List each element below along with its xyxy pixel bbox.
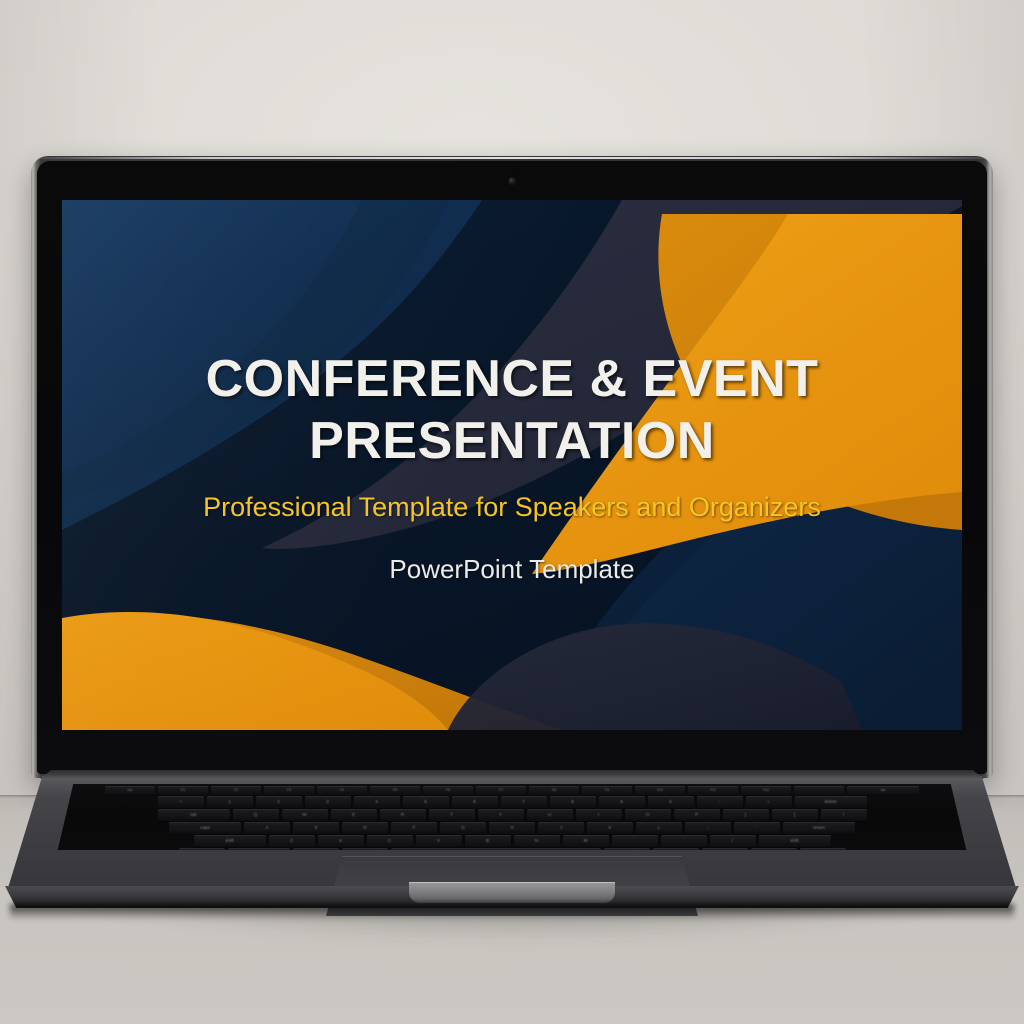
keyboard-key[interactable]: 4: [354, 796, 400, 808]
keyboard-key[interactable]: U: [527, 809, 573, 821]
keyboard-key[interactable]: F: [391, 822, 437, 834]
key-label: ;: [685, 822, 731, 834]
presentation-slide[interactable]: CONFERENCE & EVENT PRESENTATION Professi…: [62, 200, 962, 730]
key-label: Q: [233, 809, 279, 821]
key-label: V: [416, 835, 462, 847]
keyboard-key[interactable]: ctrl: [228, 848, 290, 850]
keyboard-key[interactable]: [: [723, 809, 769, 821]
key-label: N: [514, 835, 560, 847]
key-label: F4: [317, 786, 367, 795]
key-label: K: [587, 822, 633, 834]
key-label: del: [847, 786, 919, 795]
keyboard-row: ~1234567890-=delete: [54, 796, 970, 808]
key-label: A: [244, 822, 290, 834]
keyboard-key[interactable]: 8: [550, 796, 596, 808]
keyboard[interactable]: escF1F2F3F4F5F6F7F8F9F10F11F12del~123456…: [54, 784, 970, 850]
slide-background-graphic: [62, 200, 962, 730]
key-label: E: [331, 809, 377, 821]
key-label: U: [527, 809, 573, 821]
keyboard-key[interactable]: cmd: [604, 848, 650, 850]
key-label: space: [391, 848, 601, 850]
keyboard-key[interactable]: \: [821, 809, 867, 821]
webcam-icon: [509, 178, 515, 184]
keyboard-key[interactable]: F8: [529, 786, 579, 795]
keyboard-key[interactable]: M: [563, 835, 609, 847]
keyboard-key[interactable]: G: [440, 822, 486, 834]
keyboard-key[interactable]: ▶: [800, 848, 846, 850]
key-label: O: [625, 809, 671, 821]
keyboard-key[interactable]: 9: [599, 796, 645, 808]
key-label: F2: [211, 786, 261, 795]
keyboard-row: capsASDFGHJKL;'return: [54, 822, 970, 834]
key-label: F8: [529, 786, 579, 795]
keyboard-key[interactable]: [794, 786, 844, 795]
key-label: 0: [648, 796, 694, 808]
key-label: T: [429, 809, 475, 821]
keyboard-key[interactable]: F6: [423, 786, 473, 795]
key-label: ◀: [702, 848, 748, 850]
keyboard-key[interactable]: V: [416, 835, 462, 847]
keyboard-key[interactable]: T: [429, 809, 475, 821]
key-label: =: [746, 796, 792, 808]
key-label: opt: [653, 848, 699, 850]
keyboard-key[interactable]: 7: [501, 796, 547, 808]
keyboard-key[interactable]: ▲▼: [751, 848, 797, 850]
keyboard-key[interactable]: return: [783, 822, 855, 834]
key-label: caps: [169, 822, 241, 834]
keyboard-key[interactable]: ◀: [702, 848, 748, 850]
key-label: return: [783, 822, 855, 834]
laptop-base: escF1F2F3F4F5F6F7F8F9F10F11F12del~123456…: [0, 770, 1024, 920]
key-label: F3: [264, 786, 314, 795]
keyboard-key[interactable]: Y: [478, 809, 524, 821]
keyboard-key[interactable]: Q: [233, 809, 279, 821]
keyboard-key[interactable]: J: [538, 822, 584, 834]
lid-release-notch: [409, 882, 615, 903]
keyboard-key[interactable]: 5: [403, 796, 449, 808]
key-label: 9: [599, 796, 645, 808]
keyboard-key[interactable]: delete: [795, 796, 867, 808]
keyboard-key[interactable]: H: [489, 822, 535, 834]
key-label: cmd: [342, 848, 388, 850]
keyboard-key[interactable]: S: [293, 822, 339, 834]
key-label: 3: [305, 796, 351, 808]
base-underside-shadow: [10, 904, 1014, 920]
key-label: 8: [550, 796, 596, 808]
keyboard-key[interactable]: ]: [772, 809, 818, 821]
keyboard-key[interactable]: D: [342, 822, 388, 834]
keyboard-key[interactable]: 2: [256, 796, 302, 808]
keyboard-row: shiftZXCVBNM,./shift: [54, 835, 970, 847]
key-label: R: [380, 809, 426, 821]
key-label: ,: [612, 835, 658, 847]
key-label: fn: [179, 848, 225, 850]
key-label: D: [342, 822, 388, 834]
keyboard-key[interactable]: opt: [653, 848, 699, 850]
scene: CONFERENCE & EVENT PRESENTATION Professi…: [0, 0, 1024, 1024]
key-label: ]: [772, 809, 818, 821]
keyboard-key[interactable]: A: [244, 822, 290, 834]
keyboard-key[interactable]: F5: [370, 786, 420, 795]
key-label: F9: [582, 786, 632, 795]
key-label: esc: [105, 786, 155, 795]
key-label: S: [293, 822, 339, 834]
key-label: -: [697, 796, 743, 808]
key-label: 6: [452, 796, 498, 808]
keyboard-key[interactable]: O: [625, 809, 671, 821]
key-label: ▲▼: [751, 848, 797, 850]
keyboard-key[interactable]: /: [710, 835, 756, 847]
key-label: F10: [635, 786, 685, 795]
key-label: 1: [207, 796, 253, 808]
keyboard-key[interactable]: ': [734, 822, 780, 834]
keyboard-key[interactable]: -: [697, 796, 743, 808]
keyboard-key[interactable]: caps: [169, 822, 241, 834]
key-label: ctrl: [228, 848, 290, 850]
keyboard-key[interactable]: C: [367, 835, 413, 847]
keyboard-key[interactable]: space: [391, 848, 601, 850]
key-label: H: [489, 822, 535, 834]
key-label: G: [440, 822, 486, 834]
keyboard-key[interactable]: ~: [158, 796, 204, 808]
key-label: shift: [759, 835, 831, 847]
lid-top-highlight: [41, 157, 983, 159]
key-label: P: [674, 809, 720, 821]
key-label: shift: [194, 835, 266, 847]
keyboard-row: fnctrloptcmdspacecmdopt◀▲▼▶: [54, 848, 970, 850]
key-label: [: [723, 809, 769, 821]
key-label: ▶: [800, 848, 846, 850]
key-label: F11: [688, 786, 738, 795]
key-label: cmd: [604, 848, 650, 850]
keyboard-key[interactable]: F3: [264, 786, 314, 795]
keyboard-key[interactable]: F12: [741, 786, 791, 795]
key-label: 2: [256, 796, 302, 808]
key-label: C: [367, 835, 413, 847]
keyboard-key[interactable]: W: [282, 809, 328, 821]
keyboard-key[interactable]: 1: [207, 796, 253, 808]
keyboard-key[interactable]: R: [380, 809, 426, 821]
keyboard-key[interactable]: 0: [648, 796, 694, 808]
keyboard-key[interactable]: shift: [194, 835, 266, 847]
key-label: 4: [354, 796, 400, 808]
key-label: ~: [158, 796, 204, 808]
keyboard-key[interactable]: E: [331, 809, 377, 821]
key-label: tab: [158, 809, 230, 821]
key-label: J: [538, 822, 584, 834]
key-label: delete: [795, 796, 867, 808]
key-label: L: [636, 822, 682, 834]
keyboard-key[interactable]: F1: [158, 786, 208, 795]
key-label: /: [710, 835, 756, 847]
keyboard-key[interactable]: F11: [688, 786, 738, 795]
key-label: F: [391, 822, 437, 834]
key-label: F1: [158, 786, 208, 795]
keyboard-key[interactable]: shift: [759, 835, 831, 847]
laptop-mockup: CONFERENCE & EVENT PRESENTATION Professi…: [0, 0, 1024, 1024]
key-label: X: [318, 835, 364, 847]
keyboard-row: escF1F2F3F4F5F6F7F8F9F10F11F12del: [54, 786, 970, 795]
key-label: M: [563, 835, 609, 847]
keyboard-key[interactable]: tab: [158, 809, 230, 821]
keyboard-key[interactable]: cmd: [342, 848, 388, 850]
keyboard-key[interactable]: 3: [305, 796, 351, 808]
keyboard-key[interactable]: I: [576, 809, 622, 821]
keyboard-key[interactable]: F2: [211, 786, 261, 795]
keyboard-key[interactable]: F9: [582, 786, 632, 795]
key-label: opt: [293, 848, 339, 850]
key-label: ': [734, 822, 780, 834]
keyboard-key[interactable]: X: [318, 835, 364, 847]
key-label: 7: [501, 796, 547, 808]
keyboard-key[interactable]: fn: [179, 848, 225, 850]
key-label: 5: [403, 796, 449, 808]
keyboard-key[interactable]: B: [465, 835, 511, 847]
key-label: F6: [423, 786, 473, 795]
key-label: F12: [741, 786, 791, 795]
key-label: \: [821, 809, 867, 821]
keyboard-key[interactable]: ;: [685, 822, 731, 834]
keyboard-key[interactable]: .: [661, 835, 707, 847]
keyboard-key[interactable]: F10: [635, 786, 685, 795]
keyboard-key[interactable]: 6: [452, 796, 498, 808]
key-label: W: [282, 809, 328, 821]
key-label: F7: [476, 786, 526, 795]
key-label: Y: [478, 809, 524, 821]
keyboard-key[interactable]: N: [514, 835, 560, 847]
keyboard-key[interactable]: opt: [293, 848, 339, 850]
key-label: F5: [370, 786, 420, 795]
keyboard-key[interactable]: F7: [476, 786, 526, 795]
keyboard-key[interactable]: ,: [612, 835, 658, 847]
keyboard-key[interactable]: Z: [269, 835, 315, 847]
key-label: .: [661, 835, 707, 847]
keyboard-key[interactable]: del: [847, 786, 919, 795]
keyboard-key[interactable]: L: [636, 822, 682, 834]
keyboard-key[interactable]: =: [746, 796, 792, 808]
keyboard-key[interactable]: F4: [317, 786, 367, 795]
key-label: I: [576, 809, 622, 821]
keyboard-key[interactable]: K: [587, 822, 633, 834]
hinge: [40, 770, 984, 779]
keyboard-key[interactable]: P: [674, 809, 720, 821]
key-label: Z: [269, 835, 315, 847]
keyboard-key[interactable]: esc: [105, 786, 155, 795]
key-label: B: [465, 835, 511, 847]
keyboard-row: tabQWERTYUIOP[]\: [54, 809, 970, 821]
